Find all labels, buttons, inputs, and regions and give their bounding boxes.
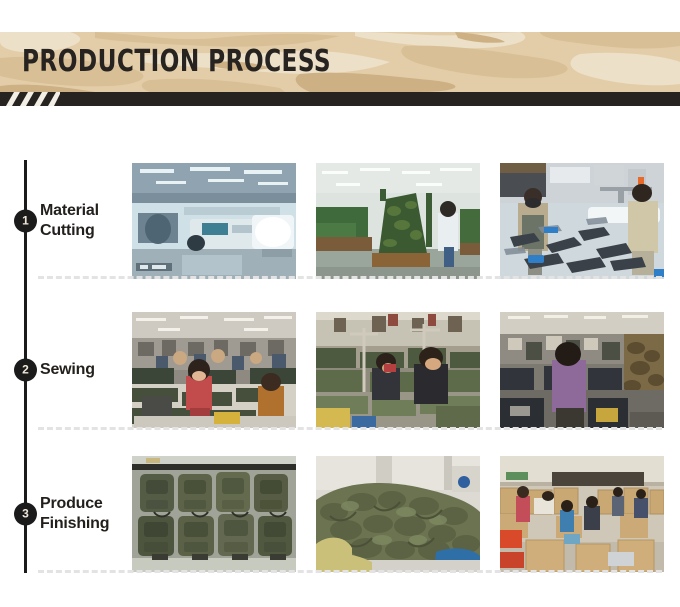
step-number-badge-1: 1 <box>14 209 37 232</box>
page-header-banner: PRODUCTION PROCESS <box>0 32 680 92</box>
sewing-floor-photo <box>132 312 296 428</box>
packing-area-photo <box>500 456 664 572</box>
step-number-badge-2: 2 <box>14 358 37 381</box>
banner-bottom-rule <box>0 92 680 106</box>
step-divider-1 <box>38 276 662 279</box>
step-divider-3 <box>38 570 662 573</box>
step-1-thumbnails <box>132 163 664 279</box>
step-number-badge-3: 3 <box>14 503 37 526</box>
fabric-inspection-photo <box>316 163 480 279</box>
diagonal-stripes-decoration <box>0 92 60 106</box>
bag-pile-photo <box>316 456 480 572</box>
step-label-1: Material Cutting <box>40 200 128 240</box>
process-steps-list: 1 Material Cutting <box>0 146 680 584</box>
step-label-3: Produce Finishing <box>40 494 128 534</box>
fabric-cutting-photo <box>500 163 664 279</box>
process-step-produce-finishing: 3 Produce Finishing <box>0 444 680 584</box>
page-title: PRODUCTION PROCESS <box>22 47 331 77</box>
sewing-line-photo <box>500 312 664 428</box>
process-step-sewing: 2 Sewing <box>0 295 680 444</box>
sewing-machines-photo <box>316 312 480 428</box>
process-step-material-cutting: 1 Material Cutting <box>0 146 680 295</box>
step-3-thumbnails <box>132 456 664 572</box>
step-label-2: Sewing <box>40 359 128 379</box>
weaving-machine-photo <box>132 163 296 279</box>
finished-backpacks-photo <box>132 456 296 572</box>
step-divider-2 <box>38 427 662 430</box>
step-2-thumbnails <box>132 312 664 428</box>
